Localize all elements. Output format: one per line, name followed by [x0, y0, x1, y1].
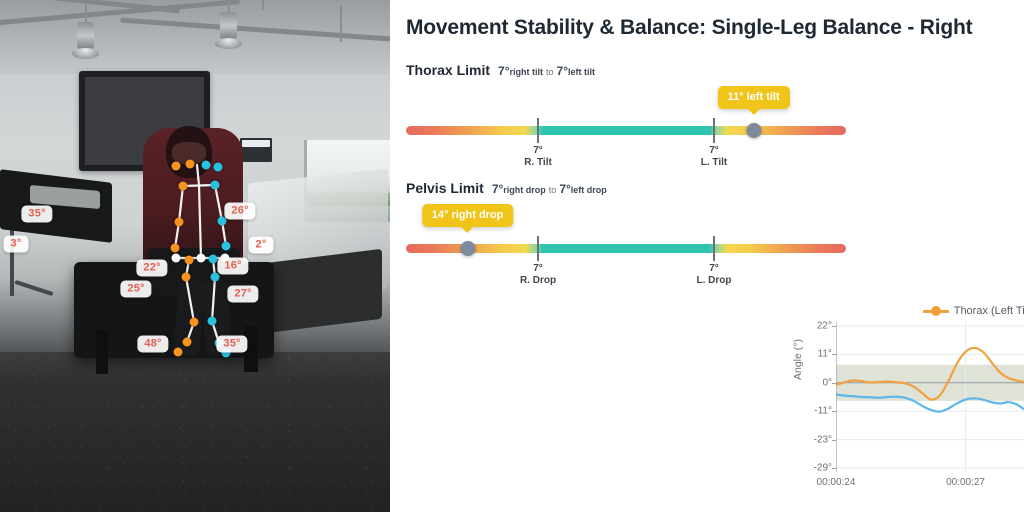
thorax-limit-block: Thorax Limit 7°right tiltto7°left tilt 7… — [406, 62, 856, 154]
thorax-gauge-tick — [537, 118, 539, 143]
thorax-gauge-tick-label: 7°R. Tilt — [524, 145, 552, 168]
chart-ytick-label: 0° — [822, 377, 832, 388]
thorax-tick-value: 7° — [701, 145, 727, 157]
thorax-range-high-unit: left tilt — [568, 67, 595, 77]
pelvis-tick-name: L. Drop — [697, 275, 732, 287]
legend-label: Thorax (Left Tilt/Right Tilt) — [954, 305, 1024, 317]
pelvis-range-high-unit: left drop — [571, 185, 607, 195]
chart-ytick-label: -23° — [814, 434, 832, 445]
thorax-limit-title: Thorax Limit — [406, 62, 490, 78]
pose-joint-left — [175, 218, 184, 227]
pose-joint-right — [214, 163, 223, 172]
pose-angle-label: 3° — [4, 236, 29, 253]
pelvis-gauge[interactable]: 7°R. Drop7°L. Drop14° right drop — [406, 226, 856, 272]
page-title: Movement Stability & Balance: Single-Leg… — [406, 16, 972, 40]
pelvis-gauge-tooltip: 14° right drop — [422, 204, 514, 227]
pose-angle-label: 27° — [227, 286, 258, 303]
thorax-tick-value: 7° — [524, 145, 552, 157]
pose-joint-left — [172, 162, 181, 171]
thorax-limit-header: Thorax Limit 7°right tiltto7°left tilt — [406, 62, 856, 78]
pose-joint-left — [185, 256, 194, 265]
thorax-gauge-tick-label: 7°L. Tilt — [701, 145, 727, 168]
legend-marker-icon — [923, 306, 949, 316]
chart-ytick-label: -29° — [814, 463, 832, 474]
pose-angle-label: 35° — [21, 206, 52, 223]
pose-angle-label: 2° — [249, 237, 274, 254]
chart-xlabel: Time (s) — [790, 485, 1024, 497]
pose-joint-mid — [172, 254, 181, 263]
pose-joint-left — [171, 244, 180, 253]
pose-joint-right — [202, 161, 211, 170]
pelvis-gauge-tick-label: 7°L. Drop — [697, 263, 732, 286]
pelvis-range-low-unit: right drop — [503, 185, 546, 195]
pelvis-range-to: to — [546, 185, 560, 195]
pose-joint-left — [186, 160, 195, 169]
pose-joint-right — [222, 242, 231, 251]
thorax-tick-name: R. Tilt — [524, 157, 552, 169]
legend-item[interactable]: Thorax (Left Tilt/Right Tilt) — [923, 305, 1024, 317]
pose-joint-right — [208, 317, 217, 326]
report-panel: Movement Stability & Balance: Single-Leg… — [390, 0, 1024, 512]
pose-joint-left — [190, 318, 199, 327]
thorax-limit-range: 7°right tiltto7°left tilt — [498, 64, 595, 78]
pose-joint-mid — [197, 254, 206, 263]
pelvis-gauge-tick — [713, 236, 715, 261]
pose-angle-label: 22° — [136, 260, 167, 277]
thorax-gauge-handle[interactable] — [746, 123, 761, 138]
thorax-gauge-tooltip: 11° left tilt — [718, 86, 790, 109]
pose-joint-left — [179, 182, 188, 191]
pose-angle-label: 48° — [137, 336, 168, 353]
pose-angle-label: 35° — [216, 336, 247, 353]
pose-joint-left — [182, 273, 191, 282]
app-root: 35°26°3°2°22°16°25°27°48°35° Movement St… — [0, 0, 1024, 512]
pelvis-gauge-tick-label: 7°R. Drop — [520, 263, 556, 286]
pelvis-tick-value: 7° — [697, 263, 732, 275]
pose-joint-left — [174, 348, 183, 357]
pelvis-tick-name: R. Drop — [520, 275, 556, 287]
thorax-gauge-bar — [406, 126, 846, 135]
pose-angle-label: 26° — [224, 203, 255, 220]
pose-angle-label: 25° — [120, 281, 151, 298]
pelvis-limit-block: Pelvis Limit 7°right dropto7°left drop 7… — [406, 180, 856, 272]
pose-joint-right — [209, 255, 218, 264]
pelvis-gauge-handle[interactable] — [460, 241, 475, 256]
pose-skeleton — [0, 0, 390, 512]
thorax-gauge-tick — [713, 118, 715, 143]
thorax-tick-name: L. Tilt — [701, 157, 727, 169]
pelvis-limit-title: Pelvis Limit — [406, 180, 484, 196]
thorax-range-low-unit: right tilt — [510, 67, 544, 77]
pelvis-range-high-value: 7° — [559, 182, 570, 196]
chart-yaxis: 22°11°0°-11°-23°-29° — [790, 322, 832, 467]
pelvis-gauge-tick — [537, 236, 539, 261]
thorax-gauge[interactable]: 7°R. Tilt7°L. Tilt11° left tilt — [406, 108, 856, 154]
chart-canvas — [836, 322, 1024, 472]
pose-capture-photo: 35°26°3°2°22°16°25°27°48°35° — [0, 0, 390, 512]
thorax-range-high-value: 7° — [557, 64, 568, 78]
chart-ytick-label: 22° — [817, 321, 832, 332]
pelvis-tick-value: 7° — [520, 263, 556, 275]
pose-joint-left — [183, 338, 192, 347]
pose-joint-right — [211, 273, 220, 282]
pelvis-range-low-value: 7° — [492, 182, 503, 196]
thorax-range-low-value: 7° — [498, 64, 509, 78]
pose-angle-label: 16° — [217, 258, 248, 275]
angle-time-chart: Thorax (Left Tilt/Right Tilt)Pelvis (Lef… — [790, 300, 1024, 510]
pose-joint-right — [211, 181, 220, 190]
chart-ytick-label: 11° — [818, 349, 832, 360]
chart-ytick-label: -11° — [814, 406, 832, 417]
pelvis-limit-header: Pelvis Limit 7°right dropto7°left drop — [406, 180, 856, 196]
thorax-range-to: to — [543, 67, 557, 77]
pelvis-limit-range: 7°right dropto7°left drop — [492, 182, 607, 196]
chart-legend: Thorax (Left Tilt/Right Tilt)Pelvis (Lef… — [790, 300, 1024, 322]
chart-plot: Angle (°) 22°11°0°-11°-23°-29° 00:00:240… — [790, 322, 1024, 508]
